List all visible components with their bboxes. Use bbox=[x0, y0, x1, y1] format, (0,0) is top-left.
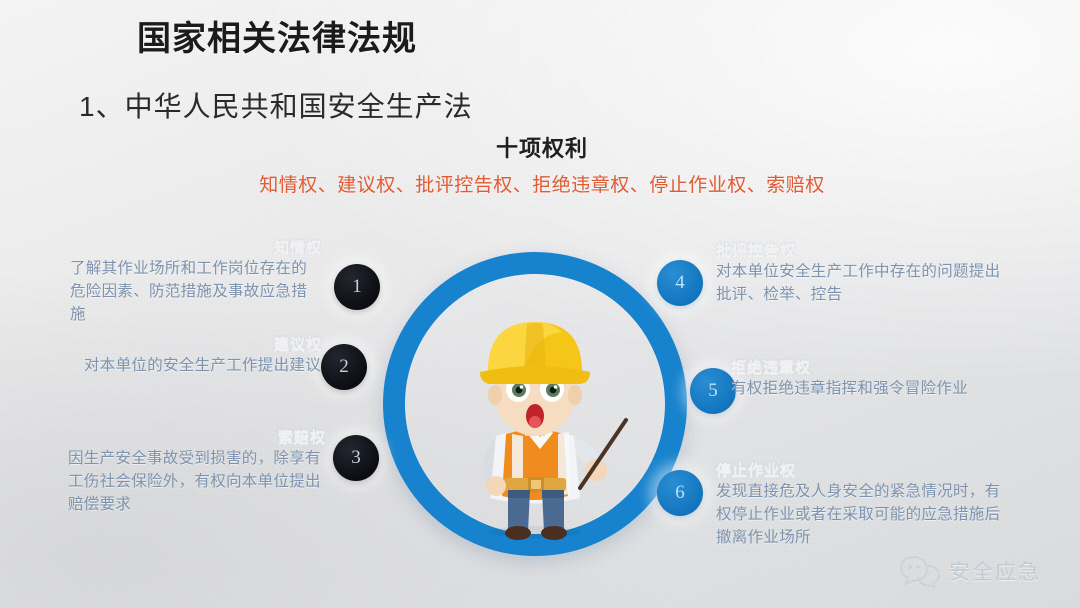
right-item-3-heading: 索赔权 bbox=[68, 430, 326, 447]
right-item-5-heading: 拒绝违章权 bbox=[731, 360, 1021, 377]
right-item-4: 批评控告权 对本单位安全生产工作中存在的问题提出批评、检举、控告 bbox=[716, 243, 1016, 306]
right-item-2-heading: 建议权 bbox=[84, 337, 322, 354]
right-item-4-heading: 批评控告权 bbox=[716, 243, 1016, 260]
right-item-4-body: 对本单位安全生产工作中存在的问题提出批评、检举、控告 bbox=[716, 260, 1016, 307]
right-item-6-body: 发现直接危及人身安全的紧急情况时，有权停止作业或者在采取可能的应急措施后撤离作业… bbox=[716, 480, 1016, 550]
right-item-3-body: 因生产安全事故受到损害的，除享有工伤社会保险外，有权向本单位提出赔偿要求 bbox=[68, 447, 326, 517]
right-item-2: 建议权 对本单位的安全生产工作提出建议 bbox=[84, 337, 322, 377]
bullet-number-1[interactable]: 1 bbox=[334, 264, 380, 310]
bullet-number-6[interactable]: 6 bbox=[657, 470, 703, 516]
bullet-number-3[interactable]: 3 bbox=[333, 435, 379, 481]
bullet-number-2[interactable]: 2 bbox=[321, 344, 367, 390]
right-item-6-heading: 停止作业权 bbox=[716, 463, 1016, 480]
construction-worker-mascot-icon bbox=[430, 300, 640, 540]
page-subtitle: 1、中华人民共和国安全生产法 bbox=[79, 91, 473, 123]
watermark-text: 安全应急 bbox=[949, 556, 1041, 586]
right-item-1-heading: 知情权 bbox=[70, 240, 322, 257]
watermark: 安全应急 bbox=[900, 548, 1070, 594]
bullet-number-5[interactable]: 5 bbox=[690, 368, 736, 414]
right-item-5-body: 有权拒绝违章指挥和强令冒险作业 bbox=[731, 377, 1021, 400]
section-title: 十项权利 bbox=[0, 131, 1080, 163]
right-item-5: 拒绝违章权 有权拒绝违章指挥和强令冒险作业 bbox=[731, 360, 1021, 400]
rights-summary-line: 知情权、建议权、批评控告权、拒绝违章权、停止作业权、索赔权 bbox=[0, 170, 1080, 197]
page-title: 国家相关法律法规 bbox=[137, 21, 417, 58]
right-item-6: 停止作业权 发现直接危及人身安全的紧急情况时，有权停止作业或者在采取可能的应急措… bbox=[716, 463, 1016, 549]
bullet-number-4[interactable]: 4 bbox=[657, 260, 703, 306]
slide-canvas: 国家相关法律法规 1、中华人民共和国安全生产法 十项权利 知情权、建议权、批评控… bbox=[0, 0, 1080, 608]
right-item-3: 索赔权 因生产安全事故受到损害的，除享有工伤社会保险外，有权向本单位提出赔偿要求 bbox=[68, 430, 326, 516]
right-item-1: 知情权 了解其作业场所和工作岗位存在的危险因素、防范措施及事故应急措施 bbox=[70, 240, 322, 326]
chat-bubble-icon bbox=[900, 554, 942, 588]
right-item-2-body: 对本单位的安全生产工作提出建议 bbox=[84, 354, 322, 377]
right-item-1-body: 了解其作业场所和工作岗位存在的危险因素、防范措施及事故应急措施 bbox=[70, 257, 322, 327]
